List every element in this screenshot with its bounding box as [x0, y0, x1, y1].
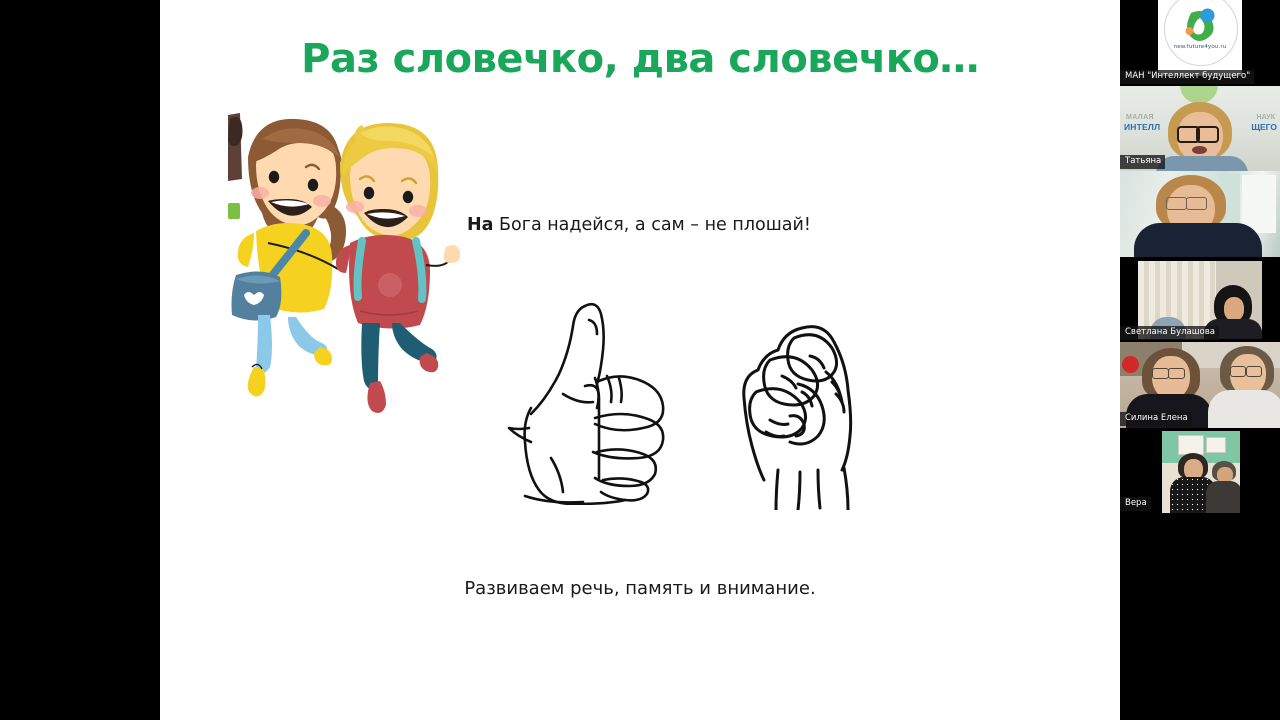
two-schoolchildren-illustration	[210, 105, 480, 425]
participant-tile-silina-elena[interactable]: Силина Елена	[1120, 342, 1280, 428]
proverb-line: На Бога надейся, а сам – не плошай!	[467, 215, 811, 235]
future4you-logo-icon	[1182, 7, 1218, 41]
letterbox-left	[0, 0, 160, 720]
rail-empty-area	[1120, 513, 1280, 720]
participant-tile-tatyana[interactable]: МАЛАЯ ИНТЕЛЛ НАУК ЩЕГО Татьяна	[1120, 86, 1280, 172]
closed-fist-hand-drawing	[740, 320, 885, 510]
shared-slide[interactable]: Раз словечко, два словечко…	[160, 0, 1120, 720]
slide-title: Раз словечко, два словечко…	[160, 36, 1120, 82]
participant-tile-vera[interactable]: Вера	[1120, 428, 1280, 514]
participant-name-badge: Силина Елена	[1120, 412, 1192, 426]
participant-tile-logo[interactable]: new.future4you.ru МАН "Интеллект будущег…	[1120, 0, 1280, 86]
participant-name-badge: МАН "Интеллект будущего"	[1120, 70, 1254, 84]
participant-tile-svetlana-bulashova[interactable]: Светлана Булашова	[1120, 257, 1280, 343]
slide-caption: Развиваем речь, память и внимание.	[160, 578, 1120, 599]
participant-rail[interactable]: new.future4you.ru МАН "Интеллект будущег…	[1120, 0, 1280, 720]
participant-name-badge: Светлана Булашова	[1120, 326, 1219, 340]
screen-share-window: Раз словечко, два словечко…	[0, 0, 1280, 720]
proverb-rest: Бога надейся, а сам – не плошай!	[493, 215, 810, 235]
thumbs-up-hand-drawing	[485, 290, 685, 505]
participant-name-badge: Татьяна	[1120, 155, 1165, 169]
video-feed	[1120, 171, 1280, 257]
participant-tile-3[interactable]	[1120, 171, 1280, 257]
proverb-lead-word: На	[467, 215, 493, 235]
logo-site-text: new.future4you.ru	[1164, 44, 1236, 50]
participant-name-badge: Вера	[1120, 497, 1151, 511]
